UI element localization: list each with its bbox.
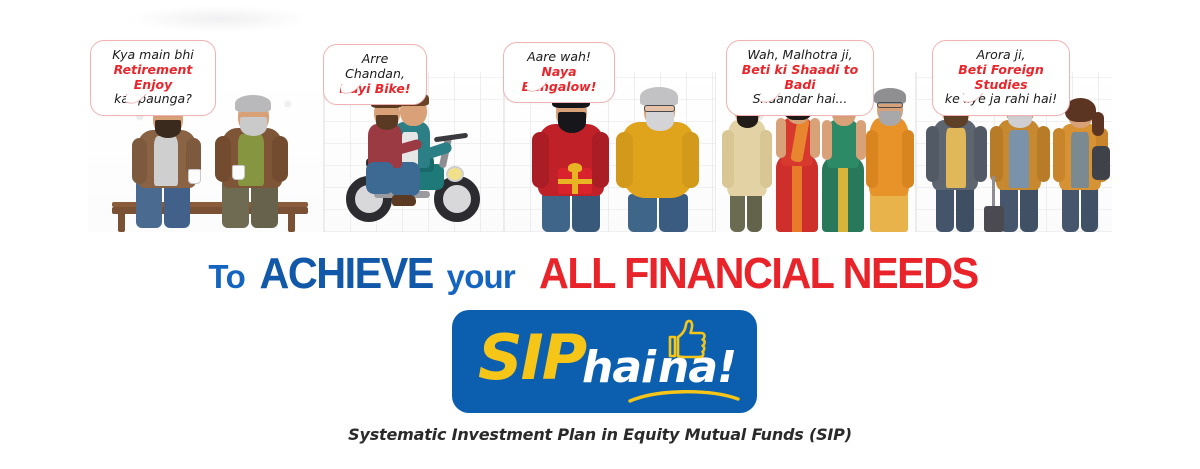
coffee-mug [232,165,245,180]
sip-hai-na-logo[interactable]: SIP hai na! [452,310,757,413]
bubble-line-1: Arora ji, [943,48,1059,63]
logo-sip-text: SIP [478,327,585,389]
headlight [446,166,464,182]
coffee-mug [188,169,201,184]
sip-hai-na-poster: Kya main bhi Retirement Enjoy kar paunga… [0,0,1200,469]
eyeglasses-icon [644,105,675,112]
background-watermark [130,6,310,32]
suitcase [984,206,1004,232]
figure-older-man [214,82,310,228]
headline-your: your [447,258,515,295]
front-rider-shoe [392,195,416,206]
bubble-new-bike: Arre Chandan, Nayi Bike! [323,44,427,105]
bubble-tail-retirement [126,94,148,116]
headline: ToACHIEVEyourALL FINANCIAL NEEDS [0,249,1200,299]
bubble-tail-foreign-studies [963,93,985,115]
bubble-retirement: Kya main bhi Retirement Enjoy kar paunga… [90,40,216,116]
bench-leg-left [118,212,125,232]
tagline: Systematic Investment Plan in Equity Mut… [0,425,1200,444]
headline-to: To [208,258,245,295]
thumbs-up-icon [660,318,708,362]
headline-achieve: ACHIEVE [260,249,433,299]
headline-needs: ALL FINANCIAL NEEDS [539,249,978,299]
bubble-line-1: Arre Chandan, [334,52,416,82]
gift-bow [568,163,582,172]
figure-elder-yellow [616,80,710,232]
bubble-highlight: Beti Foreign Studies [943,63,1059,93]
suitcase-handle [992,176,995,206]
eyeglasses-icon [877,102,903,108]
bubble-foreign-studies: Arora ji, Beti Foreign Studies ke liye j… [932,40,1070,116]
bubble-line-1: Kya main bhi [101,48,205,63]
bubble-new-bungalow: Aare wah! Naya Bungalow! [503,42,615,103]
bubble-line-2: Shaandar hai... [737,92,863,107]
logo-hai-text: hai [582,346,655,390]
bubble-tail-new-bike [341,84,363,106]
bubble-highlight: Retirement Enjoy [101,63,205,93]
bubble-line-1: Aare wah! [514,50,604,65]
gift-ribbon-horizontal [558,179,592,184]
ponytail [1092,112,1104,136]
bubble-tail-daughters-wedding [760,93,782,115]
bubble-line-1: Wah, Malhotra ji, [737,48,863,63]
back-rider-beard [376,115,398,130]
bubble-line-2: ke liye ja rahi hai! [943,92,1059,107]
backpack [1092,146,1110,180]
bubble-daughters-wedding: Wah, Malhotra ji, Beti ki Shaadi to Badi… [726,40,874,116]
back-rider-leg [366,162,394,194]
bubble-line-2: kar paunga? [101,92,205,107]
bubble-tail-new-bungalow [527,82,549,104]
bubble-highlight: Beti ki Shaadi to Badi [737,63,863,93]
swoosh-underline-icon [628,388,740,404]
